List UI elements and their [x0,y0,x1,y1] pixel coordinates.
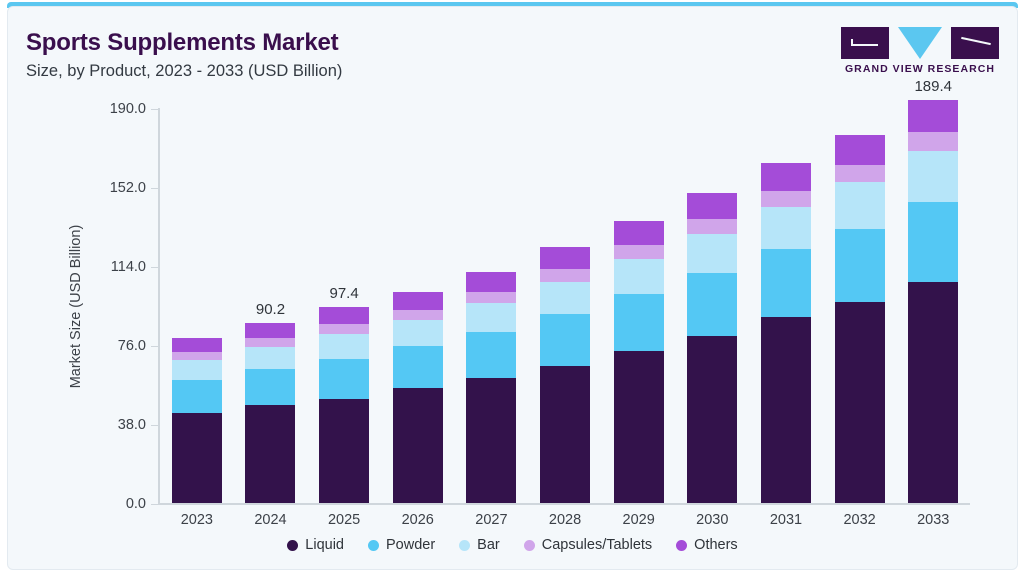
bar-column-2027[interactable]: 2027 [455,108,529,503]
bar-segment-others[interactable] [540,247,590,269]
bar-column-2028[interactable]: 2028 [528,108,602,503]
bar-segment-capsules-tablets[interactable] [172,352,222,360]
x-axis-tick-label: 2030 [675,512,749,528]
bar-segment-liquid[interactable] [908,282,958,503]
legend-item-capsules-tablets[interactable]: Capsules/Tablets [524,537,652,553]
logo-triangle-icon [898,27,942,59]
bar-segment-capsules-tablets[interactable] [466,292,516,303]
bar-segment-bar[interactable] [540,282,590,314]
bar-segment-liquid[interactable] [835,302,885,503]
legend-swatch-icon [368,540,379,551]
legend-item-bar[interactable]: Bar [459,537,500,553]
bar-segment-capsules-tablets[interactable] [540,269,590,281]
brand-logo: GRAND VIEW RESEARCH [841,27,999,81]
x-axis-tick-label: 2026 [381,512,455,528]
bar-stack[interactable] [466,272,516,503]
plot-area: 0.038.076.0114.0152.0190.0 202390.220249… [158,108,970,505]
bar-stack[interactable] [614,221,664,503]
bar-stack[interactable] [908,100,958,503]
bar-segment-powder[interactable] [319,359,369,400]
legend-label: Liquid [305,537,344,553]
page-title: Sports Supplements Market [26,29,338,57]
y-axis-tick [151,346,158,347]
bar-stack[interactable] [761,163,811,503]
bar-stack[interactable] [540,247,590,503]
bar-column-2032[interactable]: 2032 [823,108,897,503]
chart-screenshot: Sports Supplements Market Size, by Produ… [0,0,1025,576]
bar-segment-powder[interactable] [466,332,516,379]
x-axis-tick-label: 2033 [896,512,970,528]
bar-segment-powder[interactable] [687,273,737,335]
bar-segment-capsules-tablets[interactable] [687,219,737,234]
bar-segment-others[interactable] [908,100,958,132]
bar-segment-liquid[interactable] [319,399,369,503]
bar-column-2031[interactable]: 2031 [749,108,823,503]
bar-segment-bar[interactable] [172,360,222,380]
x-axis-tick-label: 2023 [160,512,234,528]
legend-item-others[interactable]: Others [676,537,738,553]
legend-swatch-icon [524,540,535,551]
bar-segment-bar[interactable] [687,234,737,274]
chart-card: Sports Supplements Market Size, by Produ… [7,6,1018,570]
bar-segment-others[interactable] [835,135,885,165]
bar-segment-capsules-tablets[interactable] [908,132,958,151]
bar-stack[interactable] [172,338,222,503]
bar-segment-powder[interactable] [908,202,958,282]
bar-value-label: 189.4 [896,78,970,95]
bar-segment-bar[interactable] [835,182,885,229]
legend-label: Capsules/Tablets [542,537,652,553]
bar-segment-capsules-tablets[interactable] [614,245,664,259]
bar-column-2033[interactable]: 189.42033 [896,108,970,503]
bar-segment-powder[interactable] [614,294,664,351]
x-axis-tick-label: 2028 [528,512,602,528]
bar-segment-capsules-tablets[interactable] [393,310,443,320]
bar-segment-bar[interactable] [466,303,516,331]
legend-label: Bar [477,537,500,553]
bar-column-2025[interactable]: 97.42025 [307,108,381,503]
bar-value-label: 90.2 [234,301,308,318]
bar-segment-liquid[interactable] [172,413,222,503]
bar-segment-bar[interactable] [614,259,664,294]
bar-segment-powder[interactable] [540,314,590,366]
bar-value-label: 97.4 [307,285,381,302]
y-axis-tick [151,425,158,426]
y-axis-tick-label: 190.0 [110,101,146,117]
bar-segment-others[interactable] [245,323,295,339]
bar-stack[interactable] [835,135,885,503]
bar-segment-capsules-tablets[interactable] [761,191,811,207]
bar-stack[interactable] [687,193,737,503]
bar-segment-liquid[interactable] [393,388,443,503]
legend-item-liquid[interactable]: Liquid [287,537,344,553]
bar-segment-powder[interactable] [245,369,295,405]
bar-segment-bar[interactable] [761,207,811,250]
bar-segment-liquid[interactable] [761,317,811,503]
y-axis-tick-label: 0.0 [126,496,146,512]
x-axis-line [158,503,970,505]
bar-segment-powder[interactable] [393,346,443,388]
y-axis-tick-label: 114.0 [111,259,146,275]
bar-segment-bar[interactable] [908,151,958,202]
x-axis-tick-label: 2032 [823,512,897,528]
bar-stack[interactable] [319,307,369,503]
bar-segment-others[interactable] [614,221,664,245]
bar-column-2029[interactable]: 2029 [602,108,676,503]
legend-swatch-icon [287,540,298,551]
y-axis-tick [151,504,158,505]
bar-column-2026[interactable]: 2026 [381,108,455,503]
bar-segment-liquid[interactable] [614,351,664,503]
chart-legend: LiquidPowderBarCapsules/TabletsOthers [8,537,1017,553]
bar-segment-others[interactable] [466,272,516,292]
y-axis-tick [151,188,158,189]
bar-segment-liquid[interactable] [245,405,295,503]
bar-segment-capsules-tablets[interactable] [835,165,885,182]
x-axis-tick-label: 2024 [234,512,308,528]
y-axis-title: Market Size (USD Billion) [68,108,88,505]
logo-left-block-icon [841,27,889,59]
bar-stack[interactable] [245,323,295,503]
logo-right-block-icon [951,27,999,59]
bar-segment-bar[interactable] [393,320,443,346]
logo-text: GRAND VIEW RESEARCH [841,63,999,75]
bar-segment-powder[interactable] [835,229,885,303]
bar-segment-powder[interactable] [172,380,222,413]
bar-column-2024[interactable]: 90.22024 [234,108,308,503]
bar-series-group: 202390.2202497.4202520262027202820292030… [160,108,970,503]
bar-segment-others[interactable] [687,193,737,219]
bar-segment-others[interactable] [761,163,811,191]
legend-label: Powder [386,537,435,553]
page-subtitle: Size, by Product, 2023 - 2033 (USD Billi… [26,62,342,81]
legend-swatch-icon [459,540,470,551]
bar-segment-powder[interactable] [761,249,811,317]
legend-item-powder[interactable]: Powder [368,537,435,553]
bar-segment-liquid[interactable] [540,366,590,503]
bar-column-2023[interactable]: 2023 [160,108,234,503]
y-axis-tick-label: 38.0 [118,417,146,433]
bar-stack[interactable] [393,292,443,503]
x-axis-tick-label: 2025 [307,512,381,528]
bar-column-2030[interactable]: 2030 [675,108,749,503]
bar-segment-liquid[interactable] [466,378,516,503]
bar-segment-others[interactable] [319,307,369,324]
logo-mark-group [841,27,999,59]
bar-segment-others[interactable] [393,292,443,310]
y-axis-tick [151,267,158,268]
x-axis-tick-label: 2027 [455,512,529,528]
legend-swatch-icon [676,540,687,551]
bar-segment-bar[interactable] [245,347,295,369]
bar-segment-others[interactable] [172,338,222,352]
y-axis-tick [151,109,158,110]
y-axis-tick-label: 76.0 [118,338,146,354]
x-axis-tick-label: 2029 [602,512,676,528]
bar-segment-capsules-tablets[interactable] [245,338,295,347]
y-axis-tick-label: 152.0 [110,180,146,196]
bar-segment-capsules-tablets[interactable] [319,324,369,334]
bar-segment-liquid[interactable] [687,336,737,503]
x-axis-tick-label: 2031 [749,512,823,528]
legend-label: Others [694,537,738,553]
bar-segment-bar[interactable] [319,334,369,359]
